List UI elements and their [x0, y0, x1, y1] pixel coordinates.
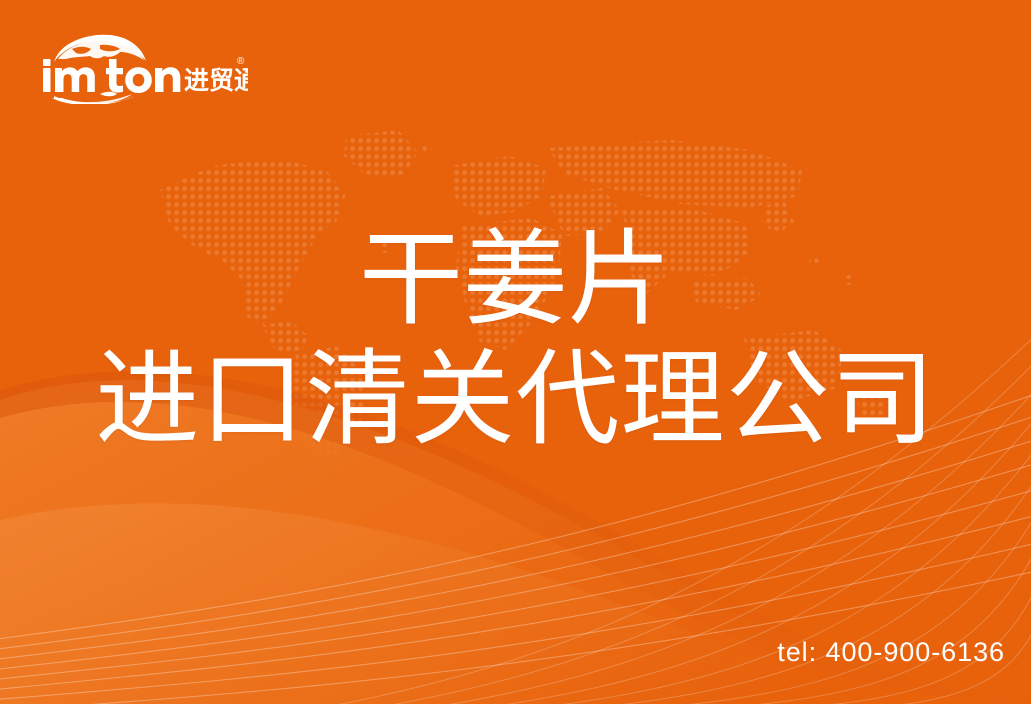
- contact-phone[interactable]: tel: 400-900-6136: [777, 637, 1005, 668]
- brand-chinese-wordmark: 进贸通: [184, 67, 248, 95]
- registered-trademark-icon: ®: [237, 56, 245, 67]
- headline-line-1: 干姜片: [0, 222, 1031, 338]
- swoosh-icon: [52, 92, 134, 104]
- promo-banner: 进贸通 ® 干姜片 进口清关代理公司 tel: 400-900-6136: [0, 0, 1031, 704]
- brand-logo[interactable]: 进贸通 ®: [38, 32, 248, 104]
- headline-line-2: 进口清关代理公司: [0, 338, 1031, 463]
- page-title: 干姜片 进口清关代理公司: [0, 222, 1031, 463]
- brand-latin-wordmark: [43, 59, 180, 93]
- brand-logo-svg: 进贸通 ®: [38, 32, 248, 104]
- globe-arc-icon: [54, 35, 146, 62]
